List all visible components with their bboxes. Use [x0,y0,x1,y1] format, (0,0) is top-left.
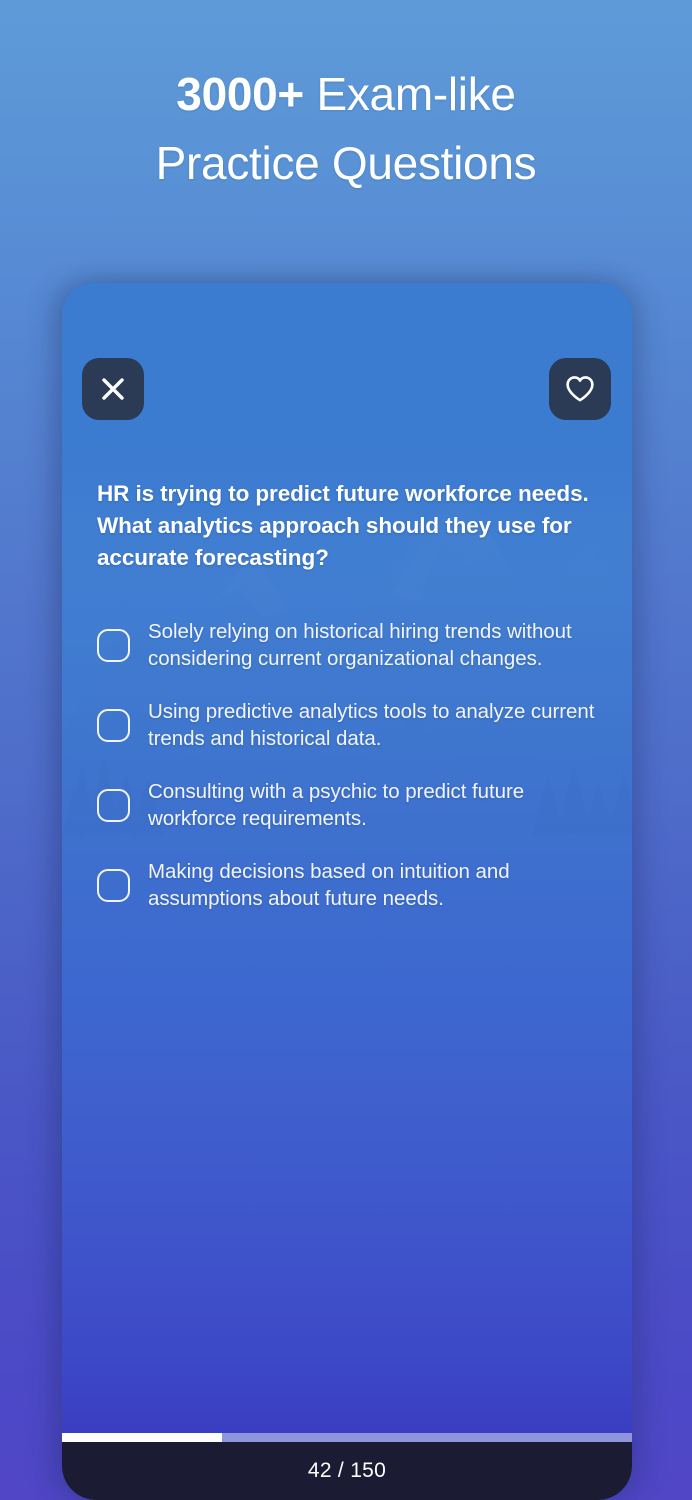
option-checkbox[interactable] [97,869,130,902]
card-footer: 42 / 150 [62,1442,632,1500]
option-label: Making decisions based on intuition and … [148,858,609,912]
option-row[interactable]: Consulting with a psychic to predict fut… [97,778,609,832]
option-checkbox[interactable] [97,789,130,822]
option-row[interactable]: Using predictive analytics tools to anal… [97,698,609,752]
question-card: HR is trying to predict future workforce… [62,283,632,1500]
close-icon [100,376,126,402]
progress-bar [62,1433,632,1442]
headline-line2: Practice Questions [156,137,537,189]
question-counter: 42 / 150 [308,1459,386,1483]
option-checkbox[interactable] [97,629,130,662]
option-checkbox[interactable] [97,709,130,742]
options-list: Solely relying on historical hiring tren… [97,618,609,912]
option-row[interactable]: Solely relying on historical hiring tren… [97,618,609,672]
option-label: Consulting with a psychic to predict fut… [148,778,609,832]
headline-count: 3000+ [176,68,304,120]
question-text: HR is trying to predict future workforce… [97,478,597,574]
progress-bar-fill [62,1433,222,1442]
favorite-button[interactable] [549,358,611,420]
option-row[interactable]: Making decisions based on intuition and … [97,858,609,912]
option-label: Solely relying on historical hiring tren… [148,618,609,672]
page-title: 3000+ Exam-like Practice Questions [0,60,692,198]
promo-screen: 3000+ Exam-like Practice Questions [0,0,692,1500]
heart-icon [565,375,595,403]
headline-rest: Exam-like [304,68,516,120]
option-label: Using predictive analytics tools to anal… [148,698,609,752]
close-button[interactable] [82,358,144,420]
